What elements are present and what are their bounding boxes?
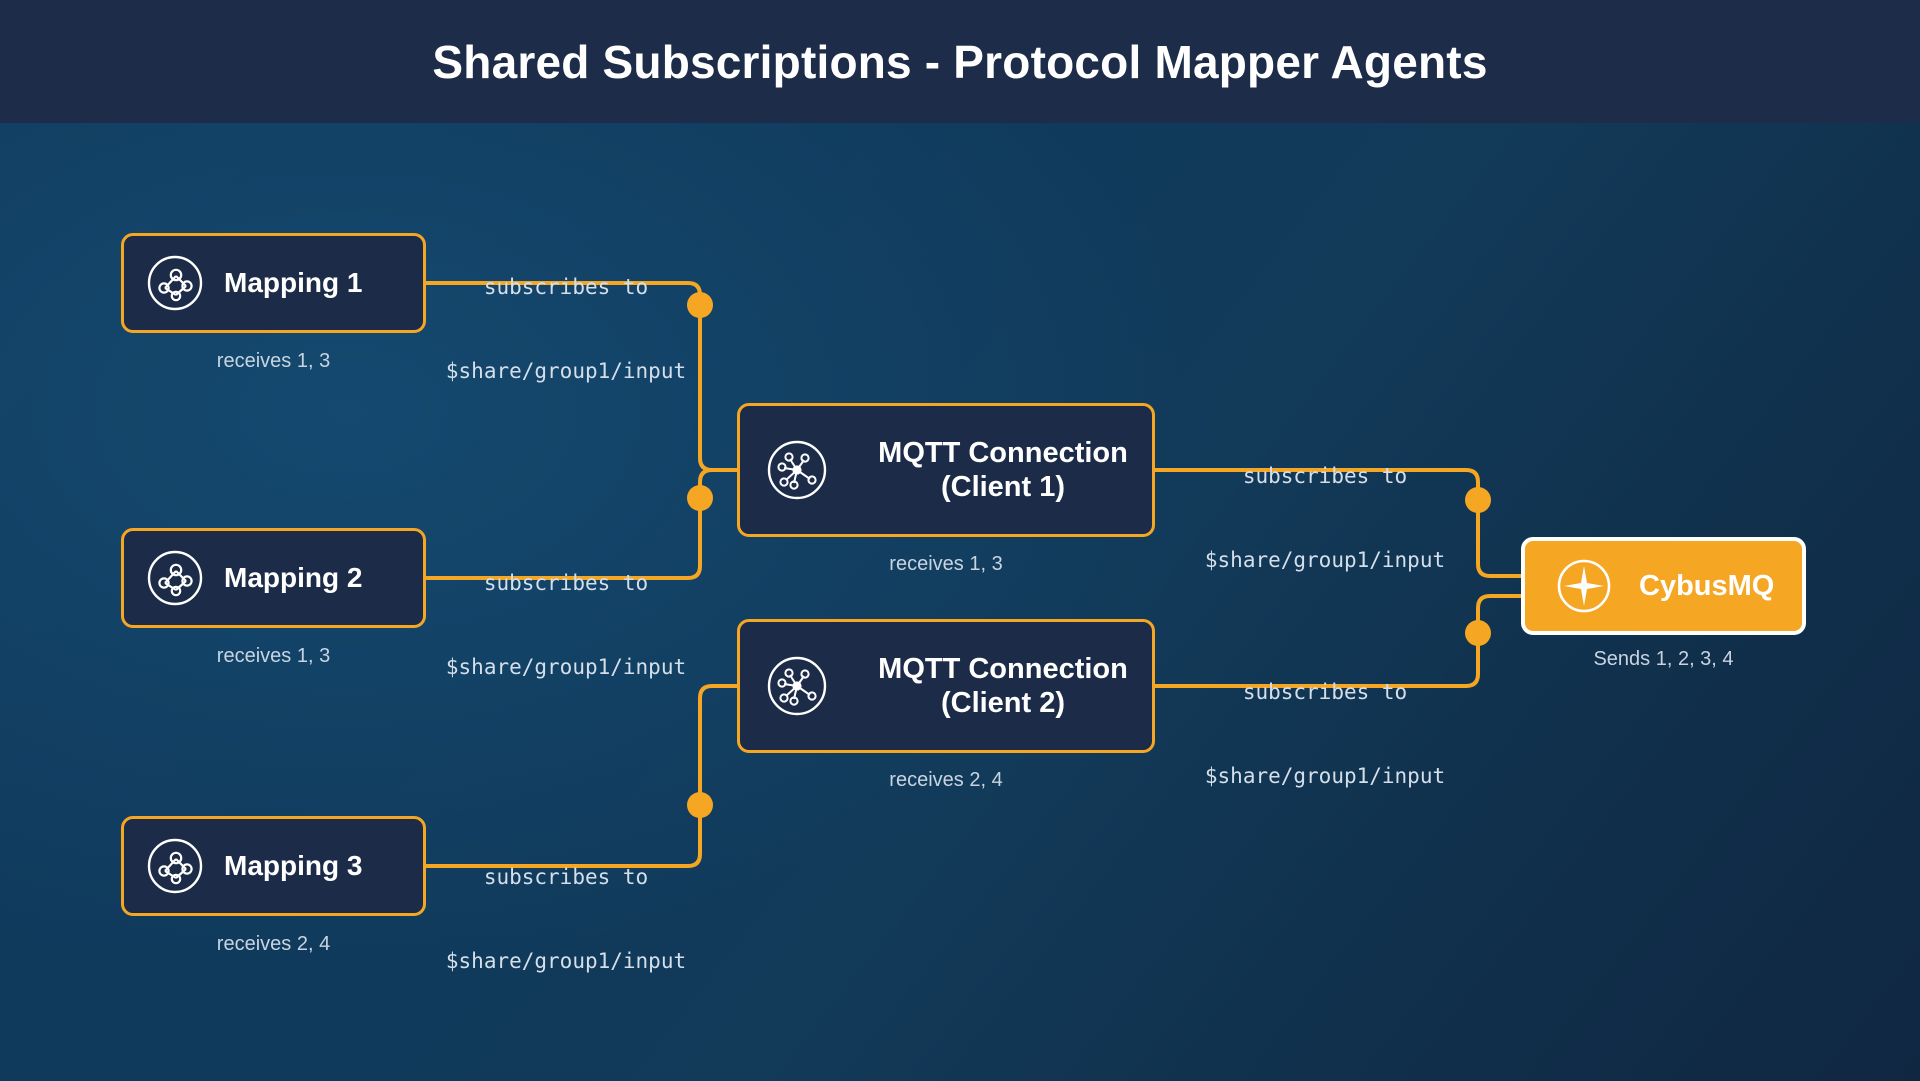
caption-mqtt-client-2: receives 2, 4 [737, 769, 1155, 792]
mapping-network-icon [146, 549, 204, 607]
junction-dot-client1 [1465, 487, 1491, 513]
node-label-line-1: MQTT Connection [878, 437, 1128, 469]
wire-junction-to-cybus-upper [1478, 500, 1523, 576]
edge-label-client1-cybusmq: subscribes to $share/group1/input [1190, 407, 1460, 630]
node-mqtt-client-1[interactable]: MQTT Connection (Client 1) [737, 403, 1155, 537]
edge-label-client2-cybusmq: subscribes to $share/group1/input [1190, 623, 1460, 846]
edge-label-line-2: $share/group1/input [431, 654, 701, 682]
node-label-line-2: (Client 2) [941, 687, 1065, 719]
caption-mapping-3: receives 2, 4 [121, 933, 426, 956]
edge-label-line-2: $share/group1/input [431, 948, 701, 976]
mapping-network-icon [146, 254, 204, 312]
node-mapping-3[interactable]: Mapping 3 [121, 816, 426, 916]
node-cybusmq[interactable]: CybusMQ [1521, 537, 1806, 635]
diagram-canvas: Shared Subscriptions - Protocol Mapper A… [0, 0, 1920, 1081]
node-label: Mapping 1 [224, 266, 362, 299]
node-label-block: MQTT Connection (Client 2) [854, 652, 1152, 720]
node-label: Mapping 3 [224, 849, 362, 882]
caption-cybusmq: Sends 1, 2, 3, 4 [1521, 648, 1806, 671]
mapping-network-icon [146, 837, 204, 895]
edge-label-line-2: $share/group1/input [431, 358, 701, 386]
edge-label-line-2: $share/group1/input [1190, 763, 1460, 791]
node-label-block: MQTT Connection (Client 1) [854, 436, 1152, 504]
caption-mapping-2: receives 1, 3 [121, 645, 426, 668]
edge-label-line-1: subscribes to [431, 570, 701, 598]
junction-dot-mapping2 [687, 485, 713, 511]
wire-trunk-upper [700, 305, 737, 470]
edge-label-line-2: $share/group1/input [1190, 547, 1460, 575]
edge-label-mapping3-client2: subscribes to $share/group1/input [431, 808, 701, 1031]
edge-label-line-1: subscribes to [431, 274, 701, 302]
edge-label-line-1: subscribes to [1190, 679, 1460, 707]
node-label: CybusMQ [1639, 569, 1774, 603]
mqtt-hub-icon [766, 439, 828, 501]
wire-trunk-lower [700, 686, 737, 805]
node-mqtt-client-2[interactable]: MQTT Connection (Client 2) [737, 619, 1155, 753]
node-label-line-1: MQTT Connection [878, 653, 1128, 685]
node-mapping-2[interactable]: Mapping 2 [121, 528, 426, 628]
caption-mapping-1: receives 1, 3 [121, 350, 426, 373]
cybus-star-icon [1555, 557, 1613, 615]
node-label-line-2: (Client 1) [941, 471, 1065, 503]
edge-label-mapping2-client1: subscribes to $share/group1/input [431, 514, 701, 737]
junction-dot-client2 [1465, 620, 1491, 646]
mqtt-hub-icon [766, 655, 828, 717]
edge-label-line-1: subscribes to [1190, 463, 1460, 491]
edge-label-mapping1-client1: subscribes to $share/group1/input [431, 218, 701, 441]
caption-mqtt-client-1: receives 1, 3 [737, 553, 1155, 576]
node-mapping-1[interactable]: Mapping 1 [121, 233, 426, 333]
edge-label-line-1: subscribes to [431, 864, 701, 892]
node-label: Mapping 2 [224, 561, 362, 594]
